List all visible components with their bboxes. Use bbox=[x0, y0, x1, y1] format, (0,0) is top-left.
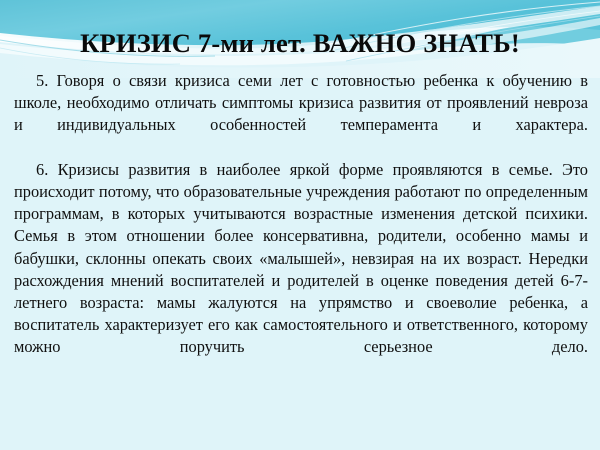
page-title: КРИЗИС 7-ми лет. ВАЖНО ЗНАТЬ! bbox=[0, 28, 600, 59]
presentation-slide: КРИЗИС 7-ми лет. ВАЖНО ЗНАТЬ! 5. Говоря … bbox=[0, 0, 600, 450]
slide-body-text: 5. Говоря о связи кризиса семи лет с гот… bbox=[14, 70, 588, 381]
paragraph-5: 5. Говоря о связи кризиса семи лет с гот… bbox=[14, 70, 588, 159]
paragraph-6: 6. Кризисы развития в наиболее яркой фор… bbox=[14, 159, 588, 381]
